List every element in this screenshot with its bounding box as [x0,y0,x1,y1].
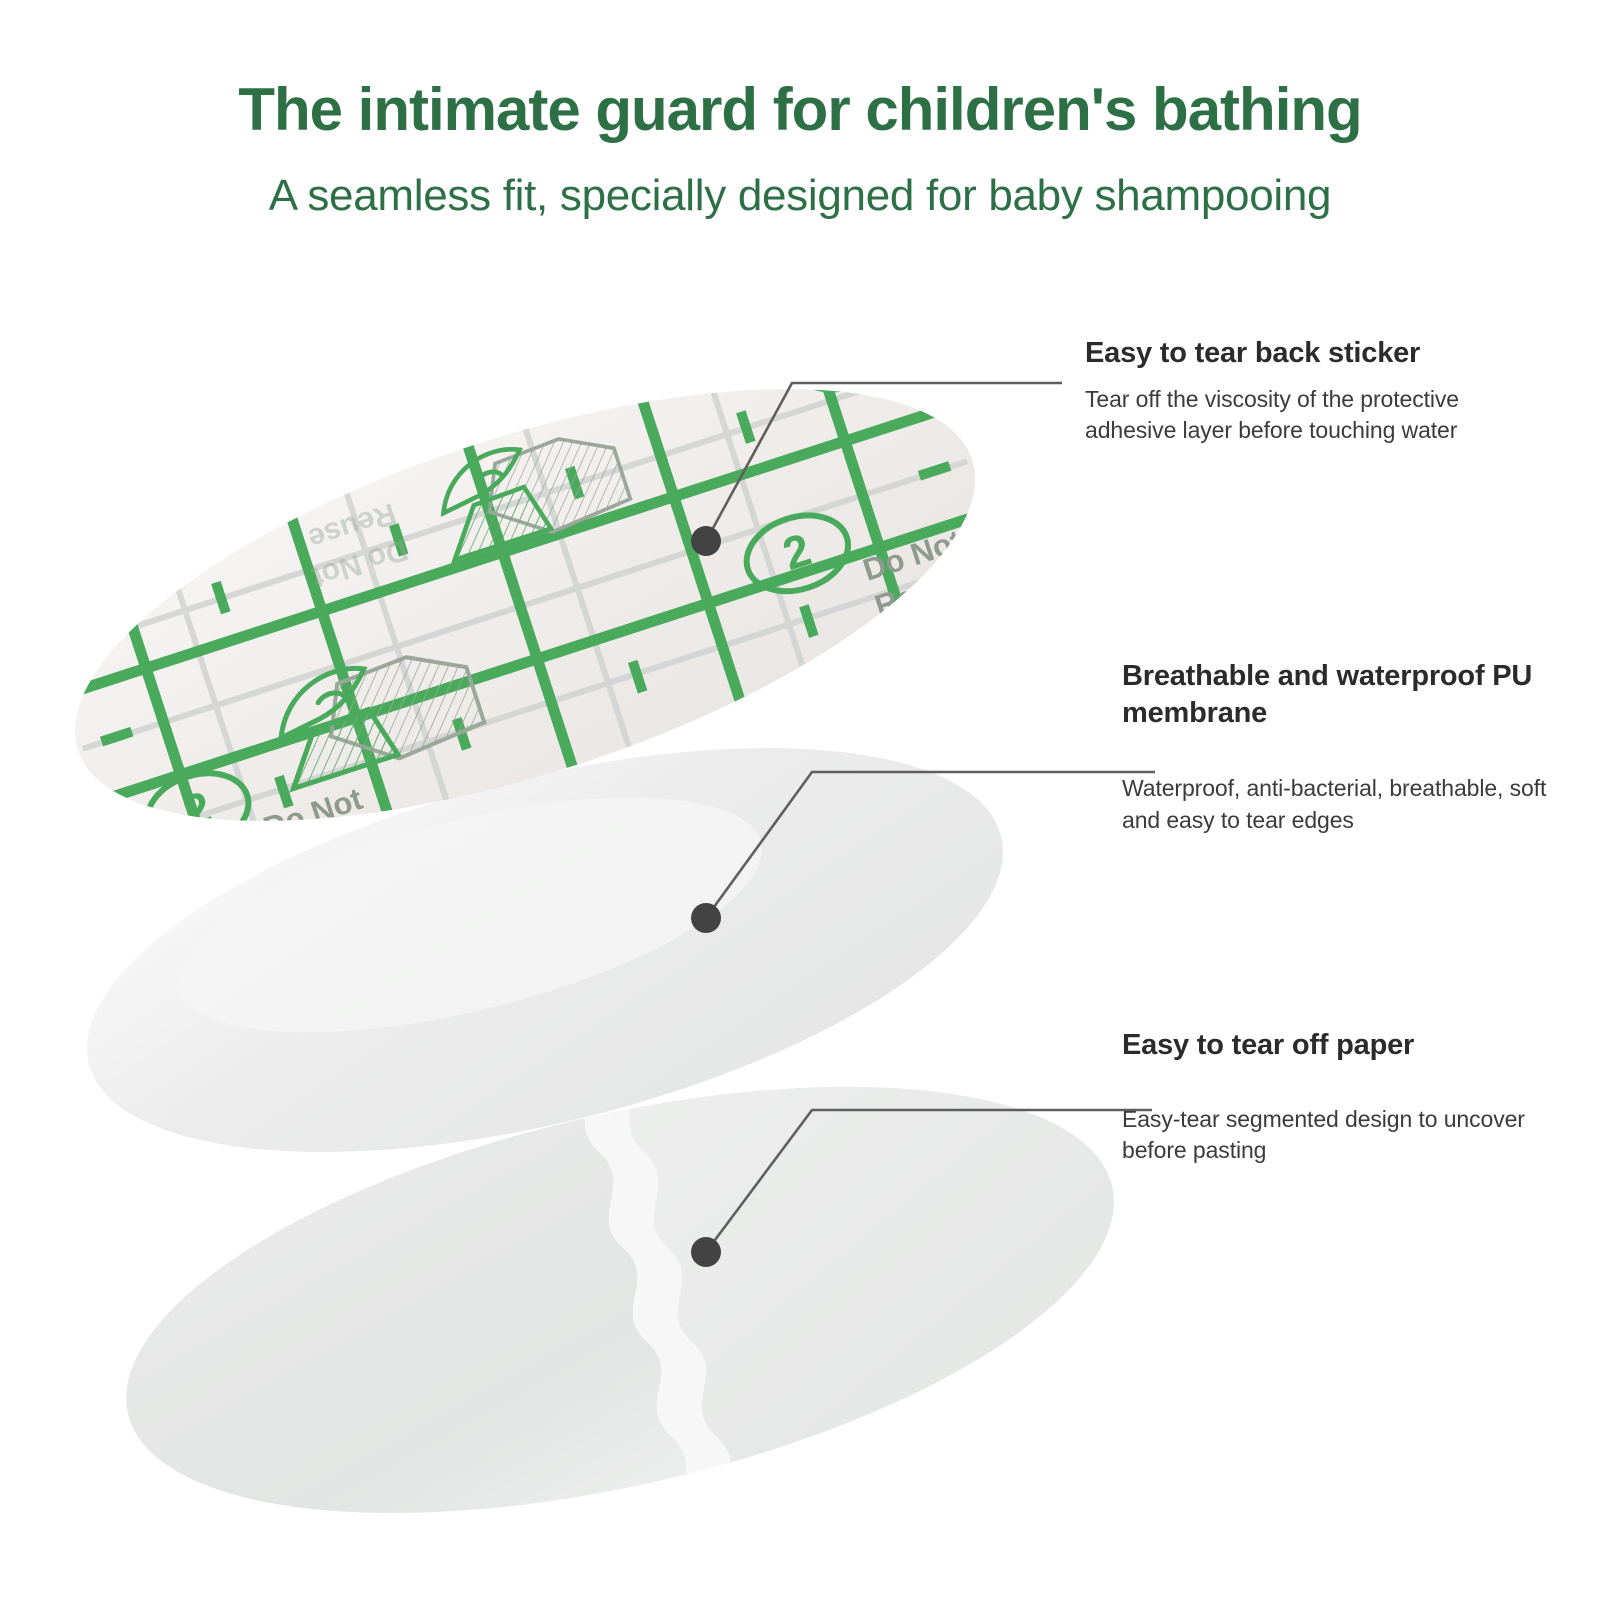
leader-line-2 [706,772,1155,918]
callout-3-heading: Easy to tear off paper [1122,1027,1542,1064]
svg-text:Reuse: Reuse [304,496,400,555]
backing-sticker-layer: 2 Do Not Reuse 2 Do Not Reuse 2 [23,268,1097,929]
svg-text:2: 2 [821,321,861,378]
leader-dot-3 [691,1237,721,1267]
leader-line-3 [706,1110,1152,1252]
svg-text:Reuse: Reuse [271,820,370,882]
leader-dot-1 [691,526,721,556]
svg-text:Do Not: Do Not [904,321,1011,386]
svg-text:Reuse: Reuse [870,562,969,624]
peel-hand-icon [427,416,633,563]
do-not-reuse-mark: 2 Do Not Reuse [782,268,1023,456]
callout-3-body: Easy-tear segmented design to uncover be… [1122,1104,1542,1167]
leader-dots [691,526,721,1267]
do-not-reuse-mark: 2 Do Not Reuse [137,728,378,916]
svg-text:2: 2 [177,781,217,838]
peel-hand-icon [263,633,487,793]
leader-lines [706,383,1155,1252]
pu-membrane-layer [47,669,1042,1230]
callout-2-heading: Breathable and waterproof PU membrane [1122,658,1552,731]
svg-text:Do Not: Do Not [859,523,966,588]
leader-dot-2 [691,903,721,933]
callout-1-heading: Easy to tear back sticker [1085,335,1505,372]
svg-text:2: 2 [777,523,817,580]
callout-breathable-waterproof-pu-membrane: Breathable and waterproof PU membrane Wa… [1122,658,1552,837]
release-paper-layer [86,1006,1200,1594]
leader-line-1 [706,383,1062,541]
callout-1-body: Tear off the viscosity of the protective… [1085,384,1505,447]
product-diagram: 2 Do Not Reuse 2 Do Not Reuse 2 [0,0,1600,1600]
callout-2-body: Waterproof, anti-bacterial, breathable, … [1122,773,1552,836]
svg-text:Reuse: Reuse [915,360,1014,422]
ghost-print: Do Not Reuse [296,496,411,594]
callout-easy-to-tear-back-sticker: Easy to tear back sticker Tear off the v… [1085,335,1505,447]
callout-easy-to-tear-off-paper: Easy to tear off paper Easy-tear segment… [1122,1027,1542,1167]
do-not-reuse-mark: 2 Do Not Reuse [737,470,978,658]
svg-text:Do Not: Do Not [259,781,366,846]
svg-text:Do Not: Do Not [308,533,412,595]
